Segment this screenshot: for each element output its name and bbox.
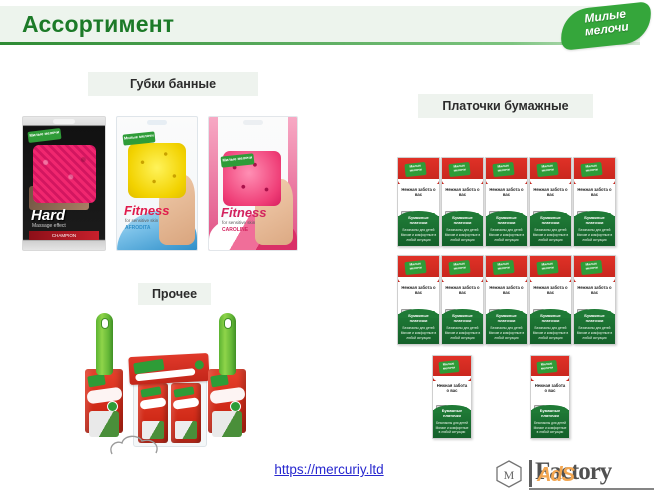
- watermark-overlay: AdS: [537, 464, 574, 487]
- watermark-divider: [529, 460, 532, 487]
- sponge-hard-banner: CHAMPION: [29, 231, 99, 240]
- tissue-headline: Нежная забота о вас: [576, 187, 612, 197]
- product-tissue-pack: Милые мелочиНежная забота о васБумажные …: [530, 355, 570, 439]
- tissue-headline: Нежная забота о вас: [400, 285, 436, 295]
- tissue-line1: Бумажные платочки: [400, 313, 438, 323]
- refill-swish: [173, 397, 200, 410]
- tissue-line2: Безопасны для детей: [400, 326, 438, 330]
- tissue-line1: Бумажные платочки: [400, 215, 438, 225]
- product-sponge-fitness-pink: Милые мелочи Fitness for sensitive skin …: [208, 116, 298, 251]
- tissue-brand-tag: Милые мелочи: [438, 360, 459, 374]
- sponge-fitness-pink-variant: CAROLINE: [222, 227, 248, 233]
- section-label-tissues: Платочки бумажные: [418, 94, 593, 118]
- watermark-cloud-icon: [108, 432, 162, 458]
- refill-swish: [140, 397, 167, 410]
- tissue-line1: Бумажные платочки: [533, 408, 568, 418]
- watermark-underline: [529, 488, 654, 490]
- product-sponge-fitness-yellow: Милые мелочи Fitness for sensitive skin …: [116, 116, 198, 251]
- tissue-headline: Нежная забота о вас: [400, 187, 436, 197]
- section-label-sponges: Губки банные: [88, 72, 258, 96]
- tissue-headline: Нежная забота о вас: [532, 285, 568, 295]
- sponge-hard-brand: Hard: [31, 207, 65, 224]
- tissue-line3: Мягкие и комфортные в любой ситуации: [532, 233, 570, 242]
- sponge-hard-sponge: [33, 145, 96, 203]
- product-lint-roller-left: [85, 313, 123, 443]
- sponge-fitness-yellow-subtitle: for sensitive skin: [125, 218, 158, 223]
- watermark: M Factory AdS: [496, 452, 658, 492]
- product-tissue-pack: Милые мелочиНежная забота о васБумажные …: [529, 157, 572, 247]
- tissue-brand-tag: Милые мелочи: [404, 260, 427, 275]
- tissue-line3: Мягкие и комфортные в любой ситуации: [532, 331, 570, 340]
- tissue-line1: Бумажные платочки: [435, 408, 470, 418]
- tissue-line3: Мягкие и комфортные в любой ситуации: [533, 426, 568, 435]
- tissue-headline: Нежная забота о вас: [532, 187, 568, 197]
- tissue-headline: Нежная забота о вас: [533, 383, 566, 393]
- tissue-line2: Безопасны для детей: [400, 228, 438, 232]
- tissue-brand-tag: Милые мелочи: [536, 162, 559, 177]
- tissue-line3: Мягкие и комфортные в любой ситуации: [435, 426, 470, 435]
- section-label-other: Прочее: [138, 283, 211, 305]
- slide: Ассортимент Милые мелочи Губки банные Пл…: [0, 0, 658, 492]
- header-underline: [0, 42, 640, 45]
- roller-photo: [212, 411, 242, 437]
- refill-roll-right: [171, 383, 201, 443]
- tissue-brand-tag: Милые мелочи: [448, 260, 471, 275]
- tissue-line3: Мягкие и комфортные в любой ситуации: [576, 233, 614, 242]
- product-tissue-pack: Милые мелочиНежная забота о васБумажные …: [573, 255, 616, 345]
- tissue-line3: Мягкие и комфортные в любой ситуации: [444, 233, 482, 242]
- tissue-line3: Мягкие и комфортные в любой ситуации: [444, 331, 482, 340]
- hang-hole-icon: [224, 318, 232, 329]
- tissue-headline: Нежная забота о вас: [444, 187, 480, 197]
- watermark-monogram-icon: M: [496, 460, 522, 488]
- tissue-line2: Безопасны для детей: [533, 421, 568, 425]
- sponge-fitness-pink-brand: Fitness: [221, 205, 267, 220]
- refill-brand-tag: [140, 386, 161, 397]
- tissue-headline: Нежная забота о вас: [435, 383, 468, 393]
- tissue-headline: Нежная забота о вас: [444, 285, 480, 295]
- hang-hole-icon: [101, 318, 109, 329]
- tissue-brand-tag: Милые мелочи: [536, 360, 557, 374]
- product-lint-roller-right: [208, 313, 246, 443]
- refill-header-card: [128, 353, 209, 385]
- tissue-brand-tag: Милые мелочи: [492, 260, 515, 275]
- tissue-line2: Безопасны для детей: [444, 228, 482, 232]
- tissue-line1: Бумажные платочки: [488, 313, 526, 323]
- sponge-fitness-yellow-variant: AFRODITA: [125, 225, 150, 231]
- tissue-headline: Нежная забота о вас: [488, 187, 524, 197]
- tissue-brand-tag: Милые мелочи: [492, 162, 515, 177]
- product-tissue-pack: Милые мелочиНежная забота о васБумажные …: [573, 157, 616, 247]
- tissue-line2: Безопасны для детей: [444, 326, 482, 330]
- tissue-line3: Мягкие и комфортные в любой ситуации: [488, 233, 526, 242]
- tissue-brand-tag: Милые мелочи: [580, 162, 603, 177]
- product-tissue-pack: Милые мелочиНежная забота о васБумажные …: [441, 157, 484, 247]
- sponge-fitness-yellow-brand: Fitness: [124, 203, 170, 218]
- tissue-line2: Безопасны для детей: [532, 228, 570, 232]
- sponge-hard-brand-tag: Милые мелочи: [27, 128, 61, 143]
- product-tissue-pack: Милые мелочиНежная забота о васБумажные …: [441, 255, 484, 345]
- sponge-hard-subtitle: Massage effect: [32, 223, 66, 229]
- product-tissue-pack: Милые мелочиНежная забота о васБумажные …: [485, 157, 528, 247]
- tissue-line3: Мягкие и комфортные в любой ситуации: [488, 331, 526, 340]
- sponge-fitness-yellow-sponge: [128, 143, 186, 198]
- tissue-headline: Нежная забота о вас: [488, 285, 524, 295]
- tissue-line1: Бумажные платочки: [532, 313, 570, 323]
- product-tissue-pack: Милые мелочиНежная забота о васБумажные …: [485, 255, 528, 345]
- hang-hole-icon: [53, 119, 75, 124]
- svg-text:M: M: [504, 468, 515, 482]
- tissue-headline: Нежная забота о вас: [576, 285, 612, 295]
- tissue-line1: Бумажные платочки: [576, 215, 614, 225]
- website-link-label: https://mercuriy.ltd: [274, 462, 383, 477]
- tissue-brand-tag: Милые мелочи: [580, 260, 603, 275]
- brand-logo: Милые мелочи: [560, 4, 652, 48]
- tissue-line2: Безопасны для детей: [488, 228, 526, 232]
- tissue-line2: Безопасны для детей: [532, 326, 570, 330]
- tissue-line1: Бумажные платочки: [444, 215, 482, 225]
- refill-photo: [175, 421, 197, 439]
- sponge-fitness-pink-subtitle: for sensitive skin: [222, 220, 255, 225]
- hang-hole-icon: [243, 120, 263, 125]
- tissue-line2: Безопасны для детей: [435, 421, 470, 425]
- tissue-line1: Бумажные платочки: [532, 215, 570, 225]
- tissue-brand-tag: Милые мелочи: [536, 260, 559, 275]
- tissue-line1: Бумажные платочки: [444, 313, 482, 323]
- tissue-line2: Безопасны для детей: [576, 326, 614, 330]
- tissue-line2: Безопасны для детей: [488, 326, 526, 330]
- product-tissue-pack: Милые мелочиНежная забота о васБумажные …: [432, 355, 472, 439]
- product-tissue-pack: Милые мелочиНежная забота о васБумажные …: [529, 255, 572, 345]
- product-tissue-pack: Милые мелочиНежная забота о васБумажные …: [397, 157, 440, 247]
- tissue-line3: Мягкие и комфортные в любой ситуации: [576, 331, 614, 340]
- refill-brand-tag: [173, 386, 194, 397]
- tissue-line3: Мягкие и комфортные в любой ситуации: [400, 331, 438, 340]
- page-title: Ассортимент: [22, 10, 174, 38]
- tissue-line2: Безопасны для детей: [576, 228, 614, 232]
- product-sponge-hard: Милые мелочи Hard Massage effect CHAMPIO…: [22, 116, 106, 251]
- refill-card-badge-icon: [195, 360, 204, 369]
- tissue-brand-tag: Милые мелочи: [448, 162, 471, 177]
- tissue-line3: Мягкие и комфортные в любой ситуации: [400, 233, 438, 242]
- tissue-line1: Бумажные платочки: [488, 215, 526, 225]
- tissue-brand-tag: Милые мелочи: [404, 162, 427, 177]
- product-tissue-pack: Милые мелочиНежная забота о васБумажные …: [397, 255, 440, 345]
- hang-hole-icon: [147, 120, 167, 125]
- tissue-line1: Бумажные платочки: [576, 313, 614, 323]
